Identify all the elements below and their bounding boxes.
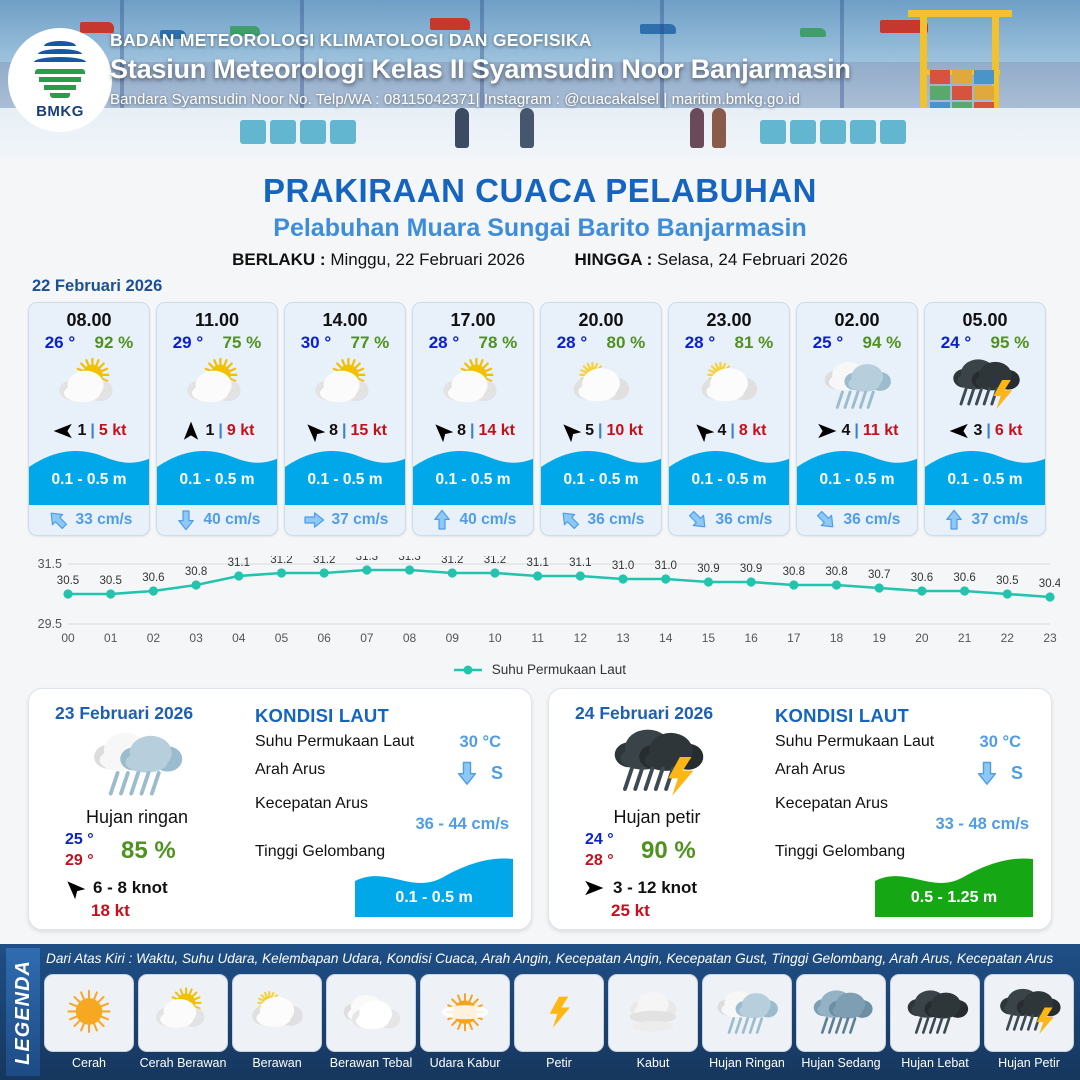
card-values: 30 °77 % xyxy=(285,331,405,353)
current-direction-arrow-icon xyxy=(942,508,966,532)
card-gust-speed: 14 kt xyxy=(478,422,514,440)
legend-berawan-icon xyxy=(232,974,322,1052)
current-speed-row: Kecepatan Arus33 - 48 cm/s xyxy=(775,795,1037,843)
current-direction-arrow-icon xyxy=(814,508,838,532)
svg-text:31.1: 31.1 xyxy=(228,557,250,569)
card-temperature: 24 ° xyxy=(941,333,971,353)
card-wave-band: 0.1 - 0.5 m xyxy=(925,445,1045,505)
card-current-speed: 33 cm/s xyxy=(76,511,133,529)
card-humidity: 94 % xyxy=(863,333,902,353)
svg-text:16: 16 xyxy=(744,631,758,645)
wind-direction-arrow-icon xyxy=(303,420,325,442)
legend-item: Hujan Ringan xyxy=(702,974,792,1070)
header-ship xyxy=(80,22,114,33)
validity-to-value: Selasa, 24 Februari 2026 xyxy=(657,250,848,269)
panel-temp-min: 24 ° xyxy=(585,831,614,849)
svg-text:31.2: 31.2 xyxy=(484,556,506,566)
svg-text:13: 13 xyxy=(616,631,630,645)
svg-text:31.2: 31.2 xyxy=(313,556,335,566)
day1-date-label: 22 Februari 2026 xyxy=(32,277,162,296)
card-humidity: 77 % xyxy=(351,333,390,353)
card-time: 14.00 xyxy=(285,303,405,331)
legend-hujan-ringan-icon xyxy=(702,974,792,1052)
forecast-card: 02.0025 °94 %4|11 kt0.1 - 0.5 m36 cm/s xyxy=(796,302,918,536)
card-gust-speed: 11 kt xyxy=(863,422,899,440)
header-terminal-floor xyxy=(0,108,1080,160)
panel-hujan-ringan-icon xyxy=(77,725,197,805)
logo-text: BMKG xyxy=(36,103,84,120)
header-organization: BADAN METEOROLOGI KLIMATOLOGI DAN GEOFIS… xyxy=(110,30,1070,51)
svg-text:30.6: 30.6 xyxy=(953,572,975,584)
card-separator: | xyxy=(470,422,474,440)
panel-wave-block: 0.1 - 0.5 m xyxy=(355,855,513,917)
svg-text:30.4: 30.4 xyxy=(1039,578,1060,590)
card-current: 36 cm/s xyxy=(541,505,661,535)
svg-text:07: 07 xyxy=(360,631,374,645)
sst-row: Suhu Permukaan Laut30 °C xyxy=(775,733,1037,761)
card-wave-height: 0.1 - 0.5 m xyxy=(157,471,277,489)
legend-item: Udara Kabur xyxy=(420,974,510,1070)
header-traveler xyxy=(712,108,726,148)
header-chair xyxy=(880,120,906,144)
svg-text:30.8: 30.8 xyxy=(783,566,805,578)
header-station-name: Stasiun Meteorologi Kelas II Syamsudin N… xyxy=(110,54,1070,85)
card-berawan-icon xyxy=(541,355,661,417)
wind-direction-arrow-icon xyxy=(948,420,970,442)
validity-from-value: Minggu, 22 Februari 2026 xyxy=(330,250,525,269)
panel-temp-min: 25 ° xyxy=(65,831,94,849)
panel-wind: 6 - 8 knot xyxy=(63,877,168,899)
card-separator: | xyxy=(218,422,222,440)
current-direction-value: S xyxy=(491,763,503,784)
current-direction-arrow-icon xyxy=(686,508,710,532)
svg-text:31.2: 31.2 xyxy=(270,556,292,566)
card-separator: | xyxy=(342,422,346,440)
svg-text:23: 23 xyxy=(1043,631,1057,645)
svg-text:31.5: 31.5 xyxy=(38,557,62,571)
logo-waves-green-icon xyxy=(35,69,85,101)
sea-conditions-heading: KONDISI LAUT xyxy=(255,705,517,727)
card-wave-height: 0.1 - 0.5 m xyxy=(413,471,533,489)
page-subtitle: Pelabuhan Muara Sungai Barito Banjarmasi… xyxy=(0,214,1080,243)
legend-item: Kabut xyxy=(608,974,698,1070)
card-time: 02.00 xyxy=(797,303,917,331)
card-time: 08.00 xyxy=(29,303,149,331)
card-current-speed: 36 cm/s xyxy=(716,511,773,529)
validity-from-label: BERLAKU : xyxy=(232,250,326,269)
card-wave-band: 0.1 - 0.5 m xyxy=(541,445,661,505)
current-speed-value: 33 - 48 cm/s xyxy=(935,815,1029,834)
card-time: 05.00 xyxy=(925,303,1045,331)
svg-text:10: 10 xyxy=(488,631,502,645)
card-current-speed: 37 cm/s xyxy=(332,511,389,529)
current-speed-label: Kecepatan Arus xyxy=(775,795,888,812)
wind-direction-arrow-icon xyxy=(692,420,714,442)
legend-item-label: Berawan Tebal xyxy=(326,1056,416,1070)
card-separator: | xyxy=(90,422,94,440)
svg-text:00: 00 xyxy=(61,631,75,645)
svg-text:31.3: 31.3 xyxy=(356,556,378,563)
panel-wind: 3 - 12 knot xyxy=(583,877,697,899)
card-values: 26 °92 % xyxy=(29,331,149,353)
current-direction-indicator: S xyxy=(973,759,1023,787)
svg-text:30.8: 30.8 xyxy=(185,566,207,578)
card-time: 11.00 xyxy=(157,303,277,331)
panel-date: 24 Februari 2026 xyxy=(575,703,713,724)
header-chair xyxy=(240,120,266,144)
svg-text:03: 03 xyxy=(189,631,203,645)
legend-item-label: Petir xyxy=(514,1056,604,1070)
forecast-card: 23.0028 °81 %4|8 kt0.1 - 0.5 m36 cm/s xyxy=(668,302,790,536)
svg-text:30.9: 30.9 xyxy=(697,563,719,575)
forecast-card: 20.0028 °80 %5|10 kt0.1 - 0.5 m36 cm/s xyxy=(540,302,662,536)
svg-text:31.1: 31.1 xyxy=(569,557,591,569)
header-chair xyxy=(270,120,296,144)
card-current-speed: 37 cm/s xyxy=(972,511,1029,529)
card-time: 17.00 xyxy=(413,303,533,331)
card-wave-height: 0.1 - 0.5 m xyxy=(285,471,405,489)
svg-text:29.5: 29.5 xyxy=(38,617,62,631)
panel-wave-height: 0.5 - 1.25 m xyxy=(875,889,1033,907)
panel-sea-conditions: KONDISI LAUTSuhu Permukaan Laut30 °CArah… xyxy=(255,705,517,919)
wind-direction-arrow-icon xyxy=(52,420,74,442)
card-wind: 1|9 kt xyxy=(157,417,277,445)
legend-item: Petir xyxy=(514,974,604,1070)
svg-text:14: 14 xyxy=(659,631,673,645)
card-temperature: 25 ° xyxy=(813,333,843,353)
card-wind: 1|5 kt xyxy=(29,417,149,445)
panel-condition: Hujan ringan xyxy=(37,807,237,828)
current-direction-row: Arah ArusS xyxy=(775,761,1037,795)
chart-legend-label: Suhu Permukaan Laut xyxy=(492,662,626,677)
legend-item-label: Hujan Lebat xyxy=(890,1056,980,1070)
svg-text:31.0: 31.0 xyxy=(655,560,677,572)
card-humidity: 80 % xyxy=(607,333,646,353)
svg-text:31.1: 31.1 xyxy=(526,557,548,569)
svg-text:06: 06 xyxy=(317,631,331,645)
legend-item-label: Cerah xyxy=(44,1056,134,1070)
svg-text:30.5: 30.5 xyxy=(996,575,1018,587)
logo-waves-blue-icon xyxy=(34,41,86,67)
card-separator: | xyxy=(986,422,990,440)
panel-temp-max: 29 ° xyxy=(65,852,94,870)
card-wave-band: 0.1 - 0.5 m xyxy=(413,445,533,505)
card-gust-speed: 8 kt xyxy=(739,422,767,440)
card-gust-speed: 9 kt xyxy=(227,422,255,440)
legend-item-label: Hujan Ringan xyxy=(702,1056,792,1070)
card-current: 40 cm/s xyxy=(157,505,277,535)
legend-item-label: Berawan xyxy=(232,1056,322,1070)
panel-humidity: 85 % xyxy=(121,837,176,865)
legend-tab: LEGENDA xyxy=(6,948,40,1076)
legend-petir-icon xyxy=(514,974,604,1052)
sst-value: 30 °C xyxy=(460,733,501,752)
card-values: 25 °94 % xyxy=(797,331,917,353)
svg-text:01: 01 xyxy=(104,631,118,645)
legend-item: Berawan xyxy=(232,974,322,1070)
svg-text:31.3: 31.3 xyxy=(398,556,420,563)
card-wave-height: 0.1 - 0.5 m xyxy=(541,471,661,489)
card-wave-band: 0.1 - 0.5 m xyxy=(797,445,917,505)
card-temperature: 26 ° xyxy=(45,333,75,353)
card-temperature: 28 ° xyxy=(429,333,459,353)
card-separator: | xyxy=(854,422,858,440)
card-gust-speed: 10 kt xyxy=(606,422,642,440)
page-header: BMKG BADAN METEOROLOGI KLIMATOLOGI DAN G… xyxy=(0,0,1080,160)
current-speed-value: 36 - 44 cm/s xyxy=(415,815,509,834)
card-cerah-berawan-icon xyxy=(29,355,149,417)
card-temperature: 28 ° xyxy=(685,333,715,353)
legend-hujan-petir-icon xyxy=(984,974,1074,1052)
card-wave-height: 0.1 - 0.5 m xyxy=(797,471,917,489)
svg-text:31.0: 31.0 xyxy=(612,560,634,572)
legend-berawan-tebal-icon xyxy=(326,974,416,1052)
card-cerah-berawan-icon xyxy=(413,355,533,417)
svg-text:04: 04 xyxy=(232,631,246,645)
header-contact-info: Bandara Syamsudin Noor No. Telp/WA : 081… xyxy=(110,91,1070,108)
card-wind: 8|14 kt xyxy=(413,417,533,445)
header-chair xyxy=(760,120,786,144)
card-wind: 5|10 kt xyxy=(541,417,661,445)
card-wave-band: 0.1 - 0.5 m xyxy=(285,445,405,505)
current-direction-row: Arah ArusS xyxy=(255,761,517,795)
panel-gust: 25 kt xyxy=(611,901,650,921)
card-wind-direction: 1 xyxy=(206,422,215,440)
legend-item-label: Hujan Sedang xyxy=(796,1056,886,1070)
card-wave-height: 0.1 - 0.5 m xyxy=(669,471,789,489)
legend-item-label: Cerah Berawan xyxy=(138,1056,228,1070)
forecast-card: 05.0024 °95 %3|6 kt0.1 - 0.5 m37 cm/s xyxy=(924,302,1046,536)
panel-wind-speed: 6 - 8 knot xyxy=(93,878,168,898)
header-traveler xyxy=(520,108,534,148)
wind-direction-arrow-icon xyxy=(63,877,85,899)
card-wave-height: 0.1 - 0.5 m xyxy=(925,471,1045,489)
header-traveler xyxy=(455,108,469,148)
card-current: 33 cm/s xyxy=(29,505,149,535)
hourly-forecast-row: 08.0026 °92 %1|5 kt0.1 - 0.5 m33 cm/s11.… xyxy=(28,302,1052,536)
card-current-speed: 40 cm/s xyxy=(460,511,517,529)
card-gust-speed: 6 kt xyxy=(995,422,1023,440)
legend-kabut-icon xyxy=(608,974,698,1052)
card-time: 20.00 xyxy=(541,303,661,331)
panel-wave-height: 0.1 - 0.5 m xyxy=(355,889,513,907)
wind-direction-arrow-icon xyxy=(583,877,605,899)
panel-humidity: 90 % xyxy=(641,837,696,865)
legend-note: Dari Atas Kiri : Waktu, Suhu Udara, Kele… xyxy=(46,951,1074,966)
card-wind-direction: 8 xyxy=(329,422,338,440)
legend-item: Hujan Sedang xyxy=(796,974,886,1070)
legend-cerah-icon xyxy=(44,974,134,1052)
sst-chart-svg: 31.529.530.50030.50130.60230.80331.10431… xyxy=(20,556,1060,656)
legend-tab-label: LEGENDA xyxy=(12,960,35,1065)
card-temperature: 29 ° xyxy=(173,333,203,353)
card-humidity: 95 % xyxy=(991,333,1030,353)
svg-text:09: 09 xyxy=(446,631,460,645)
current-direction-arrow-icon xyxy=(453,759,481,787)
svg-text:05: 05 xyxy=(275,631,289,645)
panel-condition: Hujan petir xyxy=(557,807,757,828)
sst-chart: 31.529.530.50030.50130.60230.80331.10431… xyxy=(20,556,1060,656)
legend-hujan-sedang-icon xyxy=(796,974,886,1052)
card-berawan-icon xyxy=(669,355,789,417)
card-current: 36 cm/s xyxy=(669,505,789,535)
current-direction-arrow-icon xyxy=(302,508,326,532)
svg-text:30.5: 30.5 xyxy=(57,575,79,587)
current-direction-arrow-icon xyxy=(174,508,198,532)
current-speed-label: Kecepatan Arus xyxy=(255,795,368,812)
sst-value: 30 °C xyxy=(980,733,1021,752)
legend-bar: LEGENDA Dari Atas Kiri : Waktu, Suhu Uda… xyxy=(0,944,1080,1080)
svg-text:31.2: 31.2 xyxy=(441,556,463,566)
header-chair xyxy=(300,120,326,144)
card-values: 28 °80 % xyxy=(541,331,661,353)
legend-items: CerahCerah BerawanBerawanBerawan TebalUd… xyxy=(44,974,1076,1070)
card-current-speed: 36 cm/s xyxy=(844,511,901,529)
card-wind-direction: 8 xyxy=(457,422,466,440)
card-separator: | xyxy=(730,422,734,440)
legend-item-label: Kabut xyxy=(608,1056,698,1070)
card-current-speed: 36 cm/s xyxy=(588,511,645,529)
card-wave-band: 0.1 - 0.5 m xyxy=(157,445,277,505)
card-wind: 8|15 kt xyxy=(285,417,405,445)
legend-item: Hujan Lebat xyxy=(890,974,980,1070)
current-direction-value: S xyxy=(1011,763,1023,784)
wind-direction-arrow-icon xyxy=(431,420,453,442)
card-values: 28 °78 % xyxy=(413,331,533,353)
panel-temperatures: 24 °28 ° xyxy=(585,831,614,870)
sst-label: Suhu Permukaan Laut xyxy=(255,733,414,750)
panel-hujan-petir-icon xyxy=(597,725,717,805)
svg-text:21: 21 xyxy=(958,631,972,645)
panel-temp-max: 28 ° xyxy=(585,852,614,870)
card-values: 28 °81 % xyxy=(669,331,789,353)
panel-temperatures: 25 °29 ° xyxy=(65,831,94,870)
header-traveler xyxy=(690,108,704,148)
card-temperature: 30 ° xyxy=(301,333,331,353)
svg-text:30.7: 30.7 xyxy=(868,569,890,581)
current-direction-arrow-icon xyxy=(430,508,454,532)
svg-text:17: 17 xyxy=(787,631,801,645)
card-hujan-petir-icon xyxy=(925,355,1045,417)
card-wave-band: 0.1 - 0.5 m xyxy=(669,445,789,505)
card-wind-direction: 3 xyxy=(974,422,983,440)
svg-text:30.8: 30.8 xyxy=(825,566,847,578)
sst-label: Suhu Permukaan Laut xyxy=(775,733,934,750)
card-humidity: 78 % xyxy=(479,333,518,353)
panel-date: 23 Februari 2026 xyxy=(55,703,193,724)
legend-item: Cerah xyxy=(44,974,134,1070)
svg-text:08: 08 xyxy=(403,631,417,645)
card-wind: 3|6 kt xyxy=(925,417,1045,445)
card-temperature: 28 ° xyxy=(557,333,587,353)
card-hujan-ringan-icon xyxy=(797,355,917,417)
validity-period: BERLAKU : Minggu, 22 Februari 2026 HINGG… xyxy=(0,250,1080,270)
chart-legend-marker-icon xyxy=(454,664,482,676)
svg-text:30.6: 30.6 xyxy=(911,572,933,584)
current-direction-indicator: S xyxy=(453,759,503,787)
chart-legend: Suhu Permukaan Laut xyxy=(0,662,1080,677)
card-current: 37 cm/s xyxy=(925,505,1045,535)
card-gust-speed: 5 kt xyxy=(99,422,127,440)
card-wind-direction: 1 xyxy=(78,422,87,440)
current-direction-arrow-icon xyxy=(973,759,1001,787)
header-chair xyxy=(820,120,846,144)
validity-to-label: HINGGA : xyxy=(574,250,652,269)
forecast-card: 11.0029 °75 %1|9 kt0.1 - 0.5 m40 cm/s xyxy=(156,302,278,536)
day-panel-23: 23 Februari 2026Hujan ringan25 °29 °85 %… xyxy=(28,688,532,930)
panel-gust: 18 kt xyxy=(91,901,130,921)
page-title: PRAKIRAAN CUACA PELABUHAN xyxy=(0,172,1080,210)
current-direction-label: Arah Arus xyxy=(255,761,325,778)
card-gust-speed: 15 kt xyxy=(350,422,386,440)
card-humidity: 92 % xyxy=(95,333,134,353)
card-current: 37 cm/s xyxy=(285,505,405,535)
card-humidity: 81 % xyxy=(735,333,774,353)
card-wind: 4|8 kt xyxy=(669,417,789,445)
svg-text:02: 02 xyxy=(147,631,161,645)
current-direction-arrow-icon xyxy=(558,508,582,532)
svg-text:20: 20 xyxy=(915,631,929,645)
legend-udara-kabur-icon xyxy=(420,974,510,1052)
current-speed-row: Kecepatan Arus36 - 44 cm/s xyxy=(255,795,517,843)
card-wind-direction: 4 xyxy=(842,422,851,440)
card-wind-direction: 5 xyxy=(585,422,594,440)
card-current: 36 cm/s xyxy=(797,505,917,535)
bmkg-logo: BMKG xyxy=(8,28,112,132)
header-ship xyxy=(430,18,470,30)
card-cerah-berawan-icon xyxy=(157,355,277,417)
wind-direction-arrow-icon xyxy=(180,420,202,442)
card-cerah-berawan-icon xyxy=(285,355,405,417)
legend-item: Cerah Berawan xyxy=(138,974,228,1070)
card-values: 29 °75 % xyxy=(157,331,277,353)
card-humidity: 75 % xyxy=(223,333,262,353)
panel-wind-speed: 3 - 12 knot xyxy=(613,878,697,898)
header-chair xyxy=(330,120,356,144)
card-wave-band: 0.1 - 0.5 m xyxy=(29,445,149,505)
forecast-card: 08.0026 °92 %1|5 kt0.1 - 0.5 m33 cm/s xyxy=(28,302,150,536)
card-wave-height: 0.1 - 0.5 m xyxy=(29,471,149,489)
sea-conditions-heading: KONDISI LAUT xyxy=(775,705,1037,727)
card-current: 40 cm/s xyxy=(413,505,533,535)
svg-text:30.6: 30.6 xyxy=(142,572,164,584)
svg-text:12: 12 xyxy=(574,631,588,645)
panel-wave-block: 0.5 - 1.25 m xyxy=(875,855,1033,917)
card-wind-direction: 4 xyxy=(718,422,727,440)
legend-item-label: Udara Kabur xyxy=(420,1056,510,1070)
svg-text:22: 22 xyxy=(1001,631,1015,645)
current-direction-arrow-icon xyxy=(46,508,70,532)
svg-text:15: 15 xyxy=(702,631,716,645)
wind-direction-arrow-icon xyxy=(816,420,838,442)
legend-item: Berawan Tebal xyxy=(326,974,416,1070)
forecast-card: 17.0028 °78 %8|14 kt0.1 - 0.5 m40 cm/s xyxy=(412,302,534,536)
legend-cerah-berawan-icon xyxy=(138,974,228,1052)
forecast-card: 14.0030 °77 %8|15 kt0.1 - 0.5 m37 cm/s xyxy=(284,302,406,536)
header-chair xyxy=(850,120,876,144)
panel-sea-conditions: KONDISI LAUTSuhu Permukaan Laut30 °CArah… xyxy=(775,705,1037,919)
wind-direction-arrow-icon xyxy=(559,420,581,442)
legend-item: Hujan Petir xyxy=(984,974,1074,1070)
svg-text:30.5: 30.5 xyxy=(100,575,122,587)
card-wind: 4|11 kt xyxy=(797,417,917,445)
svg-text:11: 11 xyxy=(531,631,544,645)
current-direction-label: Arah Arus xyxy=(775,761,845,778)
card-values: 24 °95 % xyxy=(925,331,1045,353)
header-chair xyxy=(790,120,816,144)
sst-row: Suhu Permukaan Laut30 °C xyxy=(255,733,517,761)
card-time: 23.00 xyxy=(669,303,789,331)
